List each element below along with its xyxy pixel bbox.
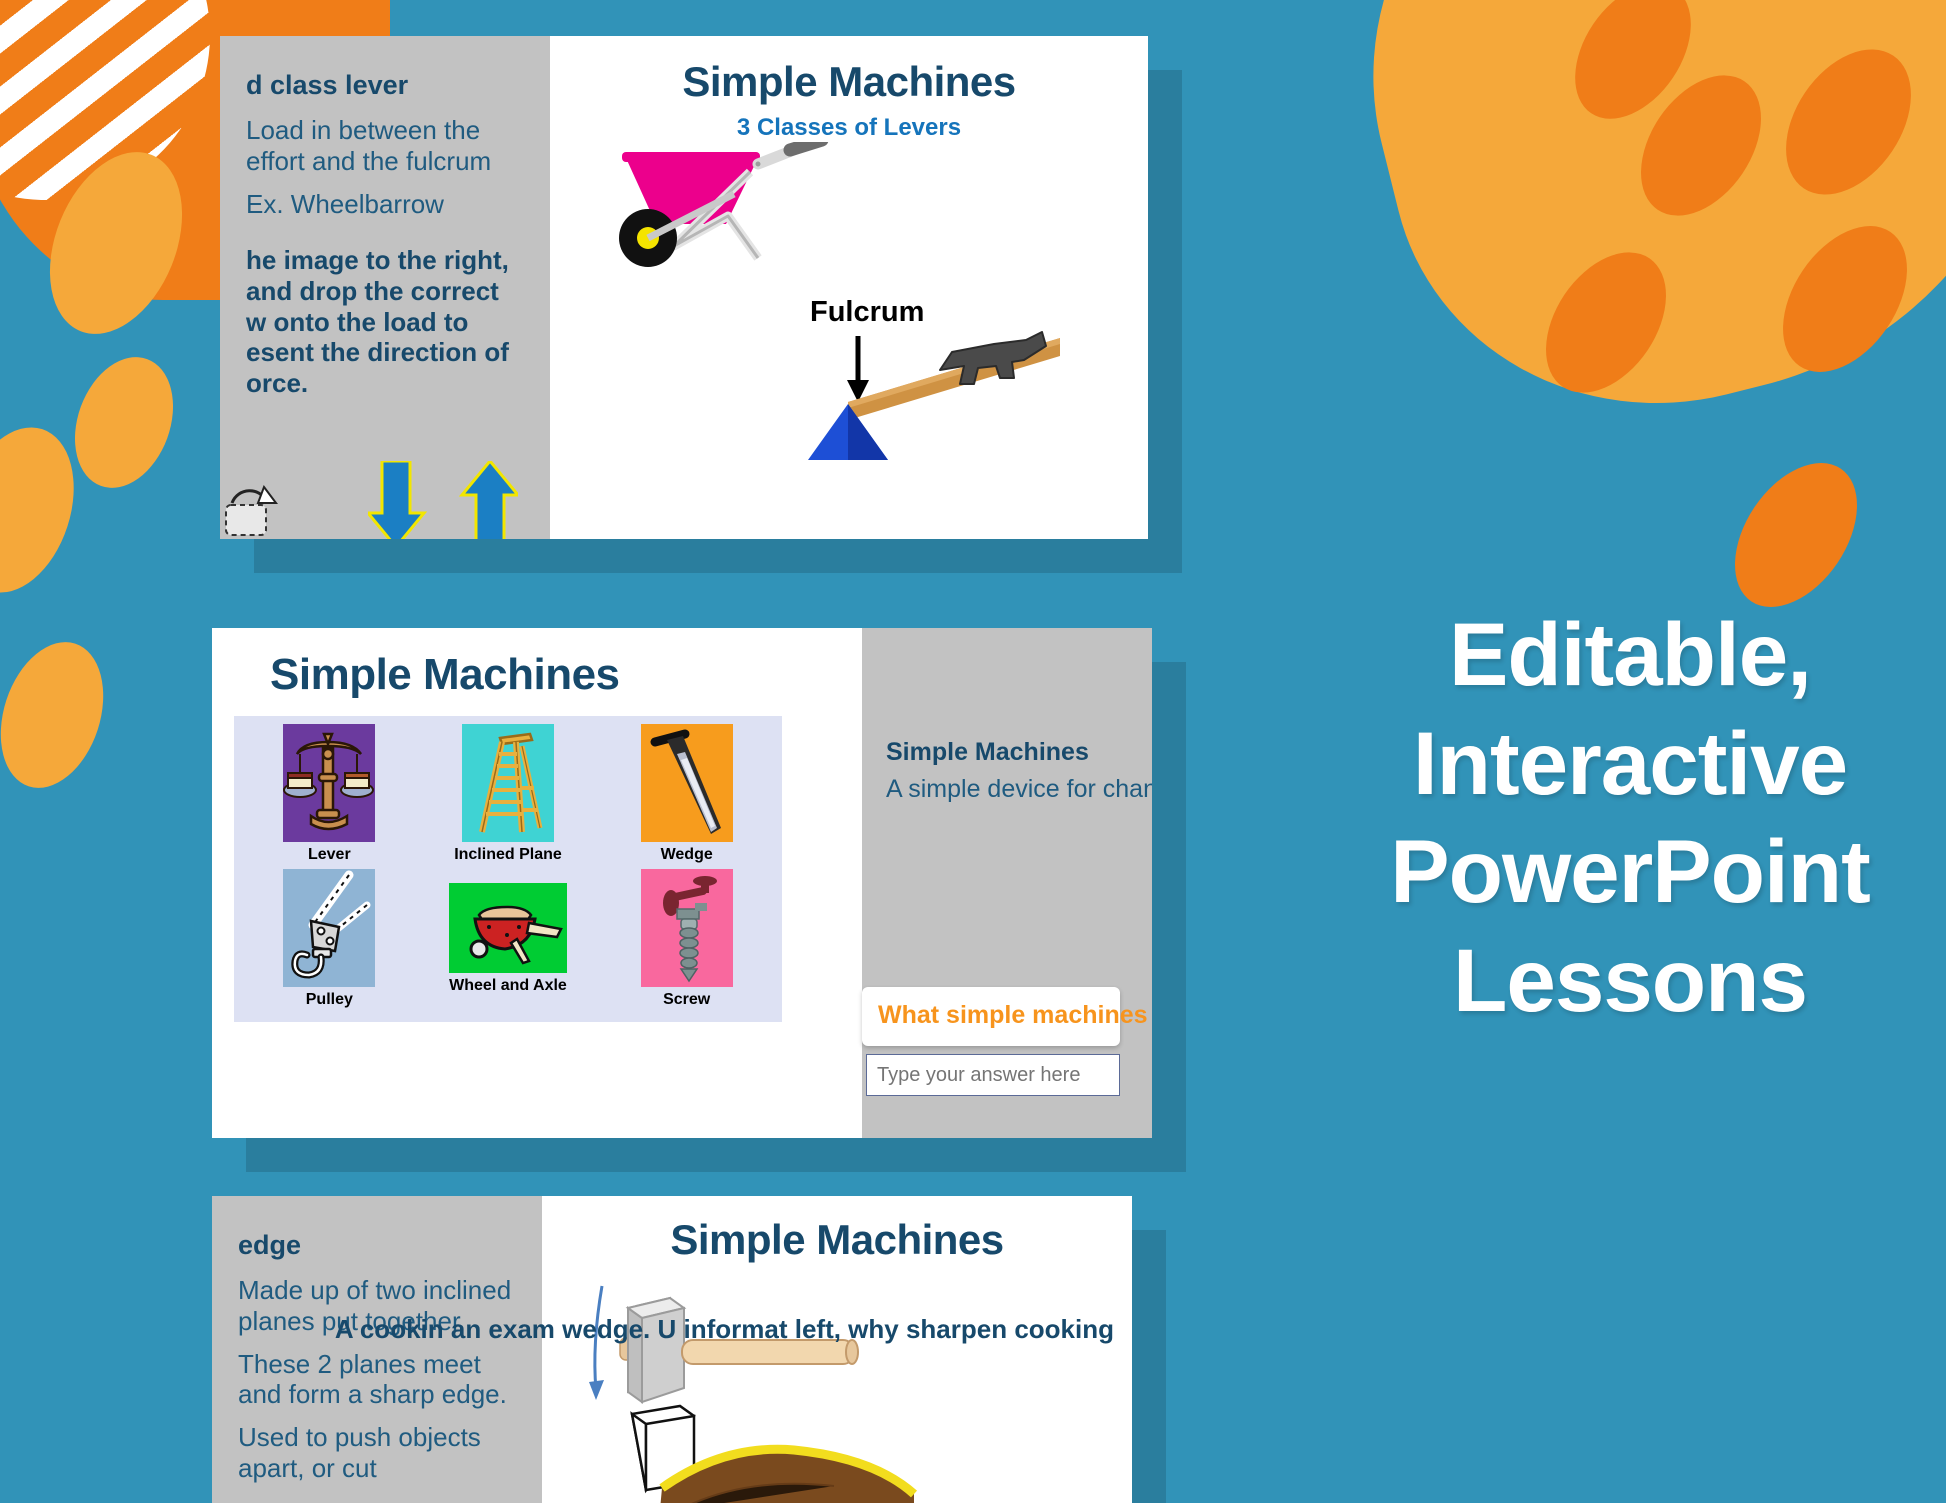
slide1-figure-pane: Simple Machines 3 Classes of Levers Fulc… xyxy=(550,36,1148,539)
hammer-wedge-illustration xyxy=(584,1274,924,1503)
direction-arrows[interactable] xyxy=(368,461,518,539)
ladder-icon xyxy=(462,724,554,842)
promo-line-1: Editable, xyxy=(1330,600,1930,709)
slide3-bullet-3: Used to push objects apart, or cut xyxy=(238,1422,516,1483)
orange-oval-decoration xyxy=(1760,26,1937,217)
slide1-bullet-1: Load in between the effort and the fulcr… xyxy=(246,115,524,176)
slide2-figure-pane: Simple Machines xyxy=(212,628,862,1138)
promo-line-4: Lessons xyxy=(1330,926,1930,1035)
answer-input[interactable] xyxy=(866,1054,1120,1096)
slide3-text-pane: edge Made up of two inclined planes put … xyxy=(212,1196,542,1503)
machine-cell-wheel-and-axle[interactable]: Wheel and Axle xyxy=(419,869,598,1014)
orange-oval-decoration xyxy=(1521,230,1691,414)
orange-oval-decoration xyxy=(25,132,207,353)
slide3-right-text: A cookin an exam wedge. U informat left,… xyxy=(335,1314,1114,1345)
machine-cell-lever[interactable]: Lever xyxy=(240,724,419,869)
orange-oval-decoration xyxy=(0,629,121,801)
question-card: What simple machines have y used recentl… xyxy=(862,987,1120,1046)
orange-oval-decoration xyxy=(1616,53,1786,237)
machine-label: Inclined Plane xyxy=(454,846,562,864)
promo-heading: Editable, Interactive PowerPoint Lessons xyxy=(1330,600,1930,1034)
slide3-figure-pane: Simple Machines xyxy=(542,1196,1132,1503)
orange-oval-decoration xyxy=(58,343,191,501)
machine-label: Wheel and Axle xyxy=(449,977,567,995)
slide3-bullet-2: These 2 planes meet and form a sharp edg… xyxy=(238,1349,516,1410)
orange-blob-decoration xyxy=(1311,0,1946,461)
machine-cell-inclined-plane[interactable]: Inclined Plane xyxy=(419,724,598,869)
chisel-icon xyxy=(641,724,733,842)
simple-machines-grid: Lever xyxy=(234,716,782,1022)
slide-preview-3[interactable]: edge Made up of two inclined planes put … xyxy=(212,1196,1132,1503)
slide1-instruction: he image to the right, and drop the corr… xyxy=(246,245,524,398)
slide1-subtitle: 3 Classes of Levers xyxy=(550,114,1148,142)
drag-handle-icon[interactable] xyxy=(220,481,282,537)
slide2-pane-body: A simple device for changing the am and/… xyxy=(886,775,1152,804)
slide1-title: Simple Machines xyxy=(550,58,1148,106)
slide3-title: Simple Machines xyxy=(542,1216,1132,1264)
poster-canvas: d class lever Load in between the effort… xyxy=(0,0,1946,1503)
slide1-pane-heading: d class lever xyxy=(246,70,524,101)
wheelbarrow-illustration xyxy=(608,142,843,282)
slide-preview-1[interactable]: d class lever Load in between the effort… xyxy=(220,36,1148,539)
pulley-hook-icon xyxy=(283,869,375,987)
machine-label: Screw xyxy=(663,991,710,1009)
hand-drill-screw-icon xyxy=(641,869,733,987)
balance-scale-icon xyxy=(283,724,375,842)
machine-cell-pulley[interactable]: Pulley xyxy=(240,869,419,1014)
machine-cell-wedge[interactable]: Wedge xyxy=(597,724,776,869)
machine-label: Wedge xyxy=(661,846,713,864)
machine-label: Pulley xyxy=(306,991,353,1009)
machine-cell-screw[interactable]: Screw xyxy=(597,869,776,1014)
wheelbarrow-cart-icon xyxy=(449,883,567,973)
promo-line-3: PowerPoint xyxy=(1330,817,1930,926)
slide2-text-pane: Simple Machines A simple device for chan… xyxy=(862,628,1152,1138)
slide1-text-pane: d class lever Load in between the effort… xyxy=(220,36,550,539)
promo-line-2: Interactive xyxy=(1330,709,1930,818)
lever-fulcrum-illustration xyxy=(790,326,1060,466)
orange-oval-decoration xyxy=(1551,0,1714,140)
question-text: What simple machines have y used recentl… xyxy=(878,1001,1104,1030)
orange-oval-decoration xyxy=(1757,203,1932,394)
slide-preview-2[interactable]: Simple Machines xyxy=(212,628,1152,1138)
orange-oval-decoration xyxy=(0,412,94,607)
machine-label: Lever xyxy=(308,846,351,864)
fulcrum-label: Fulcrum xyxy=(810,296,924,329)
slide1-bullet-2: Ex. Wheelbarrow xyxy=(246,189,524,220)
slide2-title: Simple Machines xyxy=(270,650,862,700)
slide2-pane-heading: Simple Machines xyxy=(886,738,1152,767)
slide3-pane-heading: edge xyxy=(238,1230,516,1261)
